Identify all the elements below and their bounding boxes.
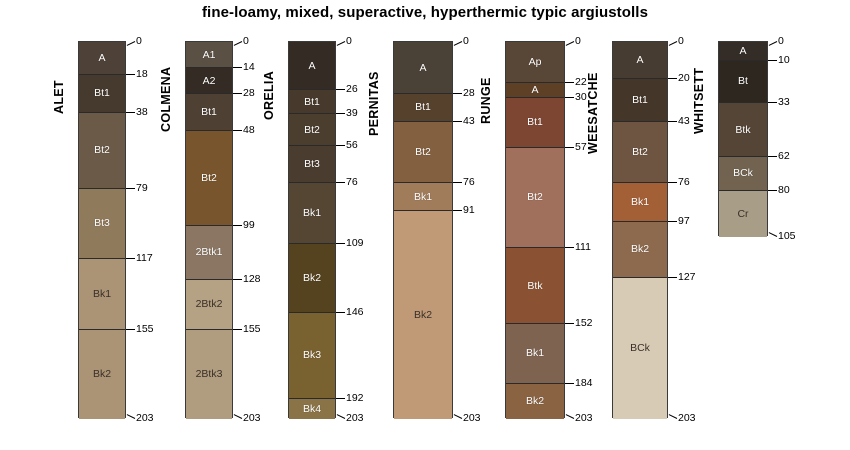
axis-tick-label: 62 bbox=[778, 150, 790, 162]
axis-tick bbox=[668, 121, 677, 122]
horizon-bt2: Bt2 bbox=[506, 148, 564, 248]
horizon-label: Bt1 bbox=[506, 116, 564, 128]
horizon-label: BCk bbox=[613, 342, 667, 354]
horizon-bt1: Bt1 bbox=[506, 98, 564, 148]
axis-tick-label: 97 bbox=[678, 215, 690, 227]
horizon-label: Cr bbox=[719, 208, 767, 220]
horizon-label: Btk bbox=[506, 280, 564, 292]
axis-tick-label: 109 bbox=[346, 237, 364, 249]
horizon-btk: Btk bbox=[719, 103, 767, 157]
axis-tick-label: 117 bbox=[136, 252, 153, 264]
horizon-label: Bt2 bbox=[79, 144, 125, 156]
horizon-bt3: Bt3 bbox=[79, 189, 125, 260]
horizon-label: Bt2 bbox=[186, 172, 232, 184]
horizon-label: Bt2 bbox=[613, 146, 667, 158]
horizon-label: 2Btk3 bbox=[186, 368, 232, 380]
axis-tick bbox=[233, 225, 242, 226]
horizon-2btk3: 2Btk3 bbox=[186, 330, 232, 419]
profile-column: ApABt1Bt2BtkBk1Bk2 bbox=[505, 41, 565, 418]
horizon-label: A bbox=[719, 45, 767, 57]
horizon-a: A bbox=[289, 42, 335, 90]
axis-tick-label: 0 bbox=[136, 35, 142, 47]
axis-tick-label: 38 bbox=[136, 106, 148, 118]
horizon-label: Btk bbox=[719, 124, 767, 136]
axis-tick-label: 203 bbox=[463, 412, 481, 424]
axis-tick bbox=[669, 41, 678, 46]
horizon-bk2: Bk2 bbox=[394, 211, 452, 419]
axis-tick bbox=[768, 102, 777, 103]
axis-tick bbox=[233, 67, 242, 68]
horizon-label: Bt3 bbox=[79, 217, 125, 229]
axis-tick-label: 80 bbox=[778, 184, 790, 196]
axis-tick bbox=[336, 243, 345, 244]
horizon-a: A bbox=[506, 83, 564, 98]
axis-tick-label: 155 bbox=[243, 323, 261, 335]
horizon-label: Bt2 bbox=[394, 146, 452, 158]
axis-tick-label: 20 bbox=[678, 72, 690, 84]
axis-tick-label: 56 bbox=[346, 139, 358, 151]
axis-tick bbox=[565, 97, 574, 98]
horizon-a1: A1 bbox=[186, 42, 232, 68]
axis-tick-label: 26 bbox=[346, 83, 358, 95]
axis-tick bbox=[565, 323, 574, 324]
axis-tick-label: 43 bbox=[678, 115, 690, 127]
horizon-label: Bk2 bbox=[394, 309, 452, 321]
axis-tick-label: 0 bbox=[778, 35, 784, 47]
axis-tick-label: 152 bbox=[575, 317, 593, 329]
axis-tick-label: 28 bbox=[463, 87, 475, 99]
axis-tick bbox=[336, 182, 345, 183]
axis-tick-label: 0 bbox=[575, 35, 581, 47]
horizon-ap: Ap bbox=[506, 42, 564, 83]
axis-tick bbox=[565, 383, 574, 384]
horizon-bk1: Bk1 bbox=[613, 183, 667, 222]
horizon-bt1: Bt1 bbox=[394, 94, 452, 122]
axis-tick bbox=[668, 182, 677, 183]
horizon-label: Bk3 bbox=[289, 349, 335, 361]
horizon-bt1: Bt1 bbox=[79, 75, 125, 112]
horizon-bt2: Bt2 bbox=[613, 122, 667, 183]
horizon-bk2: Bk2 bbox=[506, 384, 564, 419]
axis-tick bbox=[669, 414, 678, 419]
horizon-label: BCk bbox=[719, 167, 767, 179]
axis-tick bbox=[336, 312, 345, 313]
axis-tick bbox=[453, 210, 462, 211]
axis-tick-label: 14 bbox=[243, 61, 255, 73]
horizon-label: A bbox=[394, 62, 452, 74]
horizon-label: A1 bbox=[186, 49, 232, 61]
horizon-bk1: Bk1 bbox=[506, 324, 564, 383]
profile-column: ABt1Bt2Bt3Bk1Bk2 bbox=[78, 41, 126, 418]
axis-tick bbox=[126, 188, 135, 189]
profile-name-label: ALET bbox=[52, 80, 66, 114]
axis-tick bbox=[336, 145, 345, 146]
horizon-bt3: Bt3 bbox=[289, 146, 335, 183]
horizon-label: Bt1 bbox=[79, 87, 125, 99]
horizon-label: Bk1 bbox=[394, 191, 452, 203]
horizon-2btk2: 2Btk2 bbox=[186, 280, 232, 330]
soil-profile-chart: fine-loamy, mixed, superactive, hyperthe… bbox=[0, 0, 850, 450]
axis-tick-label: 0 bbox=[678, 35, 684, 47]
profile-name-label: PERNITAS bbox=[367, 71, 381, 136]
axis-tick-label: 203 bbox=[243, 412, 261, 424]
axis-tick bbox=[668, 78, 677, 79]
horizon-cr: Cr bbox=[719, 191, 767, 237]
horizon-bt: Bt bbox=[719, 61, 767, 104]
horizon-label: Bk1 bbox=[506, 347, 564, 359]
axis-tick bbox=[233, 130, 242, 131]
axis-tick-label: 30 bbox=[575, 91, 587, 103]
horizon-bt2: Bt2 bbox=[186, 131, 232, 226]
axis-tick-label: 76 bbox=[463, 176, 475, 188]
axis-tick bbox=[454, 414, 463, 419]
axis-tick-label: 111 bbox=[575, 241, 591, 253]
axis-tick bbox=[234, 414, 243, 419]
axis-tick-label: 155 bbox=[136, 323, 154, 335]
horizon-bk1: Bk1 bbox=[394, 183, 452, 211]
axis-tick bbox=[126, 112, 135, 113]
axis-tick bbox=[566, 414, 575, 419]
axis-tick-label: 76 bbox=[346, 176, 358, 188]
axis-tick-label: 28 bbox=[243, 87, 255, 99]
horizon-label: Bk1 bbox=[613, 196, 667, 208]
axis-tick bbox=[566, 41, 575, 46]
axis-tick bbox=[453, 93, 462, 94]
horizon-btk: Btk bbox=[506, 248, 564, 324]
chart-title: fine-loamy, mixed, superactive, hyperthe… bbox=[0, 4, 850, 21]
axis-tick-label: 33 bbox=[778, 96, 790, 108]
axis-tick bbox=[233, 279, 242, 280]
horizon-bt1: Bt1 bbox=[289, 90, 335, 114]
horizon-bk3: Bk3 bbox=[289, 313, 335, 398]
horizon-bck: BCk bbox=[719, 157, 767, 190]
horizon-label: Bt1 bbox=[613, 94, 667, 106]
axis-tick bbox=[127, 414, 136, 419]
profile-column: A1A2Bt1Bt22Btk12Btk22Btk3 bbox=[185, 41, 233, 418]
axis-tick bbox=[337, 414, 346, 419]
horizon-label: Bt3 bbox=[289, 158, 335, 170]
horizon-label: Bk4 bbox=[289, 403, 335, 415]
axis-tick bbox=[565, 82, 574, 83]
profile-column: ABtBtkBCkCr bbox=[718, 41, 768, 236]
axis-tick-label: 39 bbox=[346, 107, 358, 119]
horizon-bk1: Bk1 bbox=[79, 259, 125, 330]
axis-tick bbox=[127, 41, 136, 46]
horizon-bt1: Bt1 bbox=[186, 94, 232, 131]
axis-tick-label: 128 bbox=[243, 273, 261, 285]
horizon-a: A bbox=[79, 42, 125, 75]
horizon-bck: BCk bbox=[613, 278, 667, 419]
horizon-bk2: Bk2 bbox=[79, 330, 125, 419]
horizon-label: A2 bbox=[186, 75, 232, 87]
axis-tick bbox=[126, 258, 135, 259]
horizon-label: Bt bbox=[719, 75, 767, 87]
profile-name-label: COLMENA bbox=[159, 67, 173, 132]
horizon-label: 2Btk2 bbox=[186, 298, 232, 310]
horizon-label: A bbox=[79, 52, 125, 64]
axis-tick bbox=[769, 232, 778, 237]
profile-name-label: RUNGE bbox=[479, 77, 493, 124]
axis-tick-label: 105 bbox=[778, 230, 796, 242]
horizon-a: A bbox=[719, 42, 767, 61]
axis-tick bbox=[668, 221, 677, 222]
profile-column: ABt1Bt2Bk1Bk2BCk bbox=[612, 41, 668, 418]
axis-tick-label: 10 bbox=[778, 54, 790, 66]
axis-tick-label: 203 bbox=[575, 412, 593, 424]
horizon-bk2: Bk2 bbox=[289, 244, 335, 313]
axis-tick bbox=[454, 41, 463, 46]
axis-tick bbox=[126, 329, 135, 330]
horizon-label: Bk2 bbox=[506, 395, 564, 407]
axis-tick-label: 76 bbox=[678, 176, 690, 188]
axis-tick-label: 22 bbox=[575, 76, 587, 88]
axis-tick-label: 203 bbox=[678, 412, 696, 424]
horizon-label: Bt1 bbox=[394, 101, 452, 113]
axis-tick-label: 0 bbox=[463, 35, 469, 47]
horizon-label: Bt2 bbox=[289, 124, 335, 136]
axis-tick bbox=[769, 41, 778, 46]
axis-tick bbox=[768, 156, 777, 157]
horizon-bt2: Bt2 bbox=[79, 113, 125, 189]
axis-tick bbox=[768, 190, 777, 191]
horizon-bk4: Bk4 bbox=[289, 399, 335, 419]
axis-tick bbox=[668, 277, 677, 278]
horizon-label: A bbox=[506, 84, 564, 96]
axis-tick-label: 146 bbox=[346, 306, 364, 318]
axis-tick bbox=[126, 74, 135, 75]
axis-tick-label: 203 bbox=[136, 412, 154, 424]
axis-tick-label: 79 bbox=[136, 182, 148, 194]
horizon-bt2: Bt2 bbox=[394, 122, 452, 183]
horizon-bk2: Bk2 bbox=[613, 222, 667, 278]
profile-column: ABt1Bt2Bt3Bk1Bk2Bk3Bk4 bbox=[288, 41, 336, 418]
axis-tick bbox=[337, 41, 346, 46]
horizon-bt1: Bt1 bbox=[613, 79, 667, 122]
horizon-label: Bk1 bbox=[289, 207, 335, 219]
axis-tick-label: 184 bbox=[575, 377, 593, 389]
axis-tick bbox=[233, 93, 242, 94]
horizon-label: 2Btk1 bbox=[186, 246, 232, 258]
axis-tick-label: 203 bbox=[346, 412, 364, 424]
profile-column: ABt1Bt2Bk1Bk2 bbox=[393, 41, 453, 418]
axis-tick-label: 91 bbox=[463, 204, 475, 216]
axis-tick bbox=[565, 247, 574, 248]
axis-tick bbox=[336, 398, 345, 399]
horizon-label: Bt1 bbox=[289, 96, 335, 108]
profile-name-label: ORELIA bbox=[262, 71, 276, 120]
axis-tick bbox=[565, 147, 574, 148]
axis-tick-label: 127 bbox=[678, 271, 696, 283]
horizon-label: Ap bbox=[506, 56, 564, 68]
horizon-bt2: Bt2 bbox=[289, 114, 335, 146]
profile-name-label: WHITSETT bbox=[692, 68, 706, 134]
axis-tick bbox=[233, 329, 242, 330]
profile-name-label: WEESATCHE bbox=[586, 72, 600, 154]
axis-tick bbox=[336, 89, 345, 90]
axis-tick-label: 192 bbox=[346, 392, 364, 404]
axis-tick-label: 48 bbox=[243, 124, 255, 136]
axis-tick bbox=[453, 121, 462, 122]
axis-tick bbox=[336, 113, 345, 114]
horizon-a2: A2 bbox=[186, 68, 232, 94]
axis-tick-label: 43 bbox=[463, 115, 475, 127]
horizon-a: A bbox=[394, 42, 452, 94]
axis-tick-label: 0 bbox=[346, 35, 352, 47]
horizon-label: Bk1 bbox=[79, 288, 125, 300]
horizon-label: Bk2 bbox=[289, 272, 335, 284]
axis-tick-label: 0 bbox=[243, 35, 249, 47]
axis-tick-label: 99 bbox=[243, 219, 255, 231]
horizon-label: A bbox=[613, 54, 667, 66]
horizon-label: Bk2 bbox=[613, 243, 667, 255]
axis-tick bbox=[234, 41, 243, 46]
horizon-a: A bbox=[613, 42, 667, 79]
horizon-label: Bk2 bbox=[79, 368, 125, 380]
axis-tick-label: 57 bbox=[575, 141, 587, 153]
horizon-label: A bbox=[289, 60, 335, 72]
axis-tick bbox=[768, 60, 777, 61]
horizon-2btk1: 2Btk1 bbox=[186, 226, 232, 280]
axis-tick-label: 18 bbox=[136, 68, 148, 80]
horizon-label: Bt1 bbox=[186, 106, 232, 118]
horizon-bk1: Bk1 bbox=[289, 183, 335, 244]
horizon-label: Bt2 bbox=[506, 191, 564, 203]
axis-tick bbox=[453, 182, 462, 183]
